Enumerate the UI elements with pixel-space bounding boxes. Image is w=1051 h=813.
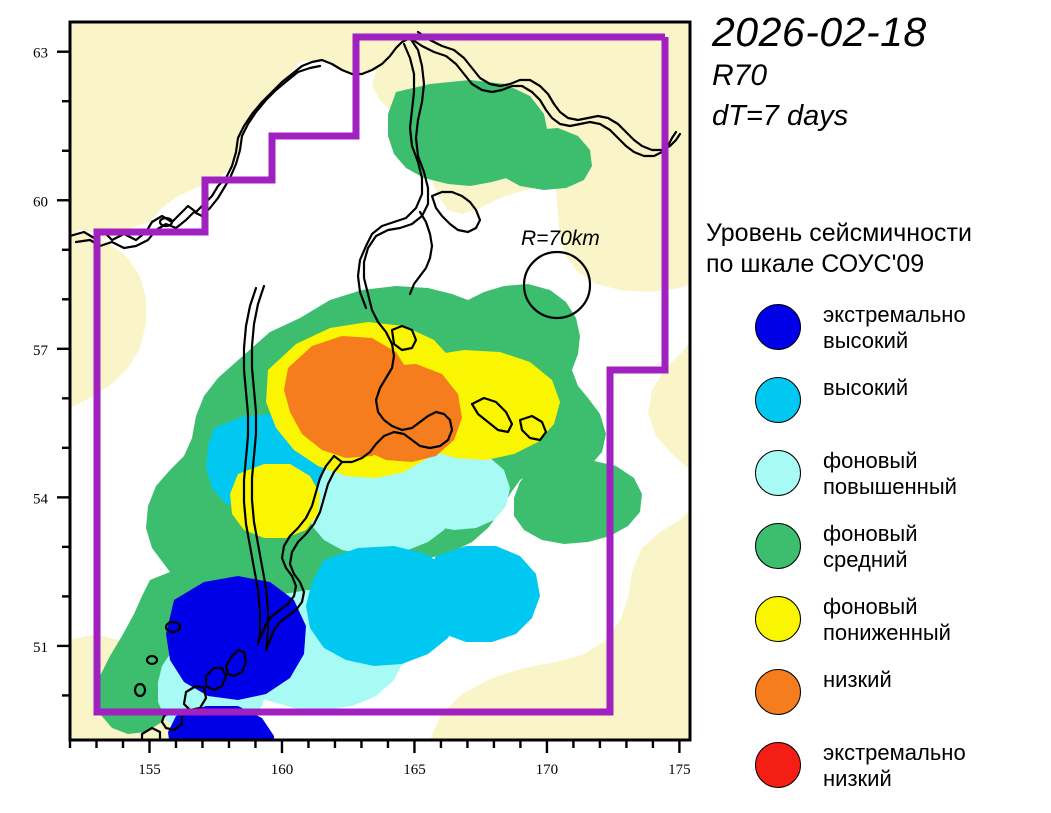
- legend-item-background-lowered[interactable]: фоновыйпониженный: [706, 594, 1051, 657]
- y-tick-label: 54: [33, 491, 49, 507]
- legend-swatch-background-elevated: [755, 450, 801, 496]
- x-tick-label: 160: [271, 762, 294, 778]
- scale-circle-label: R=70km: [521, 227, 600, 250]
- y-axis-labels: 6360575451: [33, 46, 49, 656]
- y-tick-label: 60: [33, 194, 48, 210]
- seismicity-map-page: R=70km 155160165170175 6360575451 2026-0…: [0, 0, 1051, 779]
- legend-label-extreme-low: экстремальнонизкий: [823, 740, 966, 792]
- legend-swatch-low: [755, 669, 801, 715]
- legend-label-line1: экстремально: [823, 302, 966, 328]
- legend-label-line1: экстремально: [823, 740, 966, 766]
- legend-label-background-lowered: фоновыйпониженный: [823, 594, 951, 646]
- x-tick-label: 165: [403, 762, 426, 778]
- map-canvas[interactable]: R=70km 155160165170175 6360575451: [0, 0, 700, 779]
- legend-swatch-extreme-low: [755, 742, 801, 788]
- legend-items: экстремальновысокийвысокийфоновыйповышен…: [706, 302, 1051, 803]
- legend-title-line2: по шкале СОУС'09: [706, 249, 1051, 280]
- y-axis-ticks: [57, 52, 70, 696]
- x-axis-labels: 155160165170175: [138, 762, 690, 778]
- legend-panel: Уровень сейсмичности по шкале СОУС'09 эк…: [706, 218, 1051, 813]
- legend-swatch-background-lowered: [755, 596, 801, 642]
- x-tick-label: 170: [536, 762, 559, 778]
- y-tick-label: 51: [33, 640, 48, 656]
- legend-label-line1: высокий: [823, 375, 908, 401]
- header-block: 2026-02-18 R70 dT=7 days: [712, 8, 1051, 136]
- legend-label-extreme-high: экстремальновысокий: [823, 302, 966, 354]
- legend-item-low[interactable]: низкий: [706, 667, 1051, 730]
- legend-label-line2: высокий: [823, 328, 966, 354]
- legend-item-background-average[interactable]: фоновыйсредний: [706, 521, 1051, 584]
- x-axis-ticks: [70, 740, 679, 753]
- legend-label-line2: пониженный: [823, 620, 951, 646]
- legend-swatch-extreme-high: [755, 304, 801, 350]
- legend-label-high: высокий: [823, 375, 908, 401]
- legend-label-background-average: фоновыйсредний: [823, 521, 918, 573]
- legend-item-high[interactable]: высокий: [706, 375, 1051, 438]
- legend-item-extreme-low[interactable]: экстремальнонизкий: [706, 740, 1051, 803]
- x-tick-label: 155: [138, 762, 161, 778]
- y-tick-label: 57: [33, 343, 49, 359]
- legend-label-line2: низкий: [823, 766, 966, 792]
- legend-item-extreme-high[interactable]: экстремальновысокий: [706, 302, 1051, 365]
- legend-label-line2: повышенный: [823, 474, 957, 500]
- legend-label-line1: фоновый: [823, 448, 957, 474]
- legend-label-line1: низкий: [823, 667, 892, 693]
- time-window-title: dT=7 days: [712, 96, 1051, 136]
- legend-label-low: низкий: [823, 667, 892, 693]
- legend-label-line2: средний: [823, 547, 918, 573]
- legend-swatch-background-average: [755, 523, 801, 569]
- legend-label-background-elevated: фоновыйповышенный: [823, 448, 957, 500]
- legend-label-line1: фоновый: [823, 594, 951, 620]
- date-title: 2026-02-18: [712, 8, 1051, 56]
- y-tick-label: 63: [33, 46, 48, 62]
- legend-swatch-high: [755, 377, 801, 423]
- legend-label-line1: фоновый: [823, 521, 918, 547]
- map-panel: R=70km 155160165170175 6360575451: [0, 0, 700, 779]
- x-tick-label: 175: [668, 762, 691, 778]
- legend-item-background-elevated[interactable]: фоновыйповышенный: [706, 448, 1051, 511]
- legend-title-line1: Уровень сейсмичности: [706, 218, 1051, 249]
- radius-title: R70: [712, 56, 1051, 96]
